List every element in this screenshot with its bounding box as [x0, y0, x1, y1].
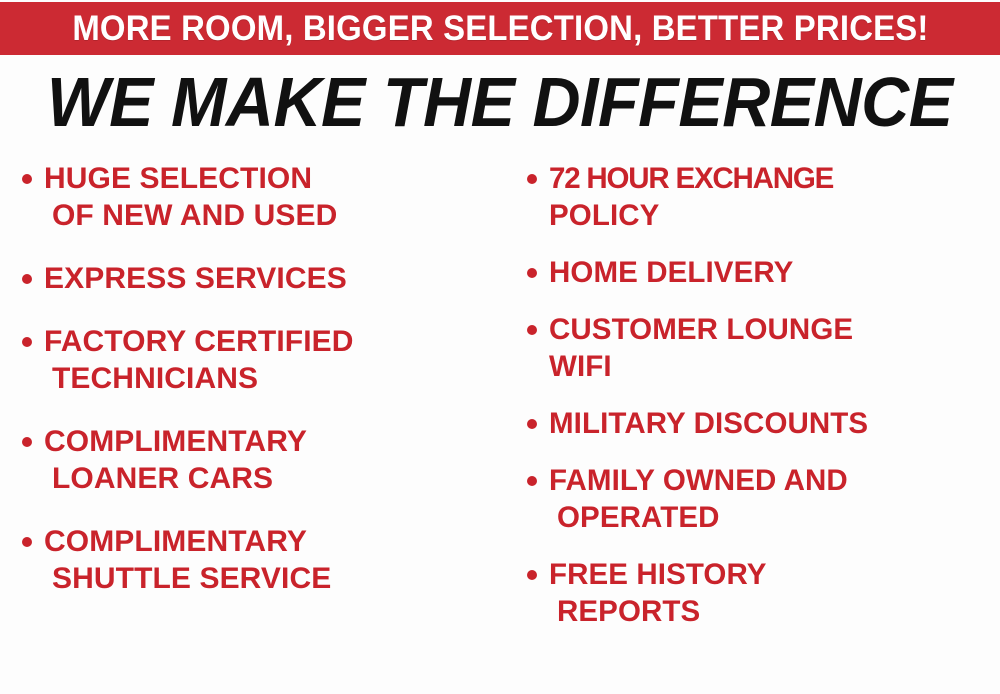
benefit-label: EXPRESS SERVICES — [44, 260, 347, 297]
top-promo-banner-text: MORE ROOM, BIGGER SELECTION, BETTER PRIC… — [72, 11, 928, 46]
bullet-dot-icon — [527, 325, 537, 335]
bullet-dot-icon — [22, 537, 32, 547]
benefit-line-1: MILITARY DISCOUNTS — [549, 405, 868, 442]
benefit-label: MILITARY DISCOUNTS — [549, 405, 868, 442]
benefit-item: 72 HOUR EXCHANGE POLICY — [527, 160, 998, 234]
benefit-line-2: OF NEW AND USED — [44, 197, 337, 234]
bullet-dot-icon — [527, 268, 537, 278]
headline: WE MAKE THE DIFFERENCE — [0, 66, 1000, 138]
benefit-label: COMPLIMENTARY LOANER CARS — [44, 423, 307, 497]
benefit-line-2: OPERATED — [549, 499, 848, 536]
bullet-dot-icon — [527, 570, 537, 580]
benefit-label: HOME DELIVERY — [549, 254, 793, 291]
benefit-item: HUGE SELECTION OF NEW AND USED — [22, 160, 501, 234]
benefits-column-right: 72 HOUR EXCHANGE POLICY HOME DELIVERY CU… — [505, 160, 1000, 694]
benefit-label: COMPLIMENTARY SHUTTLE SERVICE — [44, 523, 331, 597]
benefit-item: FACTORY CERTIFIED TECHNICIANS — [22, 323, 501, 397]
benefit-item: COMPLIMENTARY LOANER CARS — [22, 423, 501, 497]
benefit-line-1: FAMILY OWNED AND — [549, 462, 848, 499]
bullet-dot-icon — [527, 476, 537, 486]
bullet-dot-icon — [527, 174, 537, 184]
benefit-label: FREE HISTORY REPORTS — [549, 556, 767, 630]
bullet-dot-icon — [22, 174, 32, 184]
bullet-dot-icon — [527, 419, 537, 429]
benefit-item: EXPRESS SERVICES — [22, 260, 501, 297]
benefit-item: COMPLIMENTARY SHUTTLE SERVICE — [22, 523, 501, 597]
benefit-line-1: HOME DELIVERY — [549, 254, 793, 291]
dealership-benefits-ad: MORE ROOM, BIGGER SELECTION, BETTER PRIC… — [0, 0, 1000, 694]
top-promo-banner: MORE ROOM, BIGGER SELECTION, BETTER PRIC… — [0, 2, 1000, 55]
benefit-item: CUSTOMER LOUNGE WIFI — [527, 311, 998, 385]
benefit-line-2: REPORTS — [549, 593, 767, 630]
benefit-label: FAMILY OWNED AND OPERATED — [549, 462, 848, 536]
benefit-line-1: HUGE SELECTION — [44, 160, 337, 197]
benefits-columns: HUGE SELECTION OF NEW AND USED EXPRESS S… — [0, 160, 1000, 694]
benefit-line-1: CUSTOMER LOUNGE — [549, 311, 853, 348]
benefit-item: FREE HISTORY REPORTS — [527, 556, 998, 630]
benefit-line-2: POLICY — [549, 197, 833, 234]
benefit-line-1: 72 HOUR EXCHANGE — [549, 160, 833, 197]
benefit-line-1: FACTORY CERTIFIED — [44, 323, 354, 360]
benefit-item: FAMILY OWNED AND OPERATED — [527, 462, 998, 536]
benefit-line-1: FREE HISTORY — [549, 556, 767, 593]
benefits-column-left: HUGE SELECTION OF NEW AND USED EXPRESS S… — [0, 160, 505, 694]
benefit-line-1: COMPLIMENTARY — [44, 523, 331, 560]
benefit-line-2: LOANER CARS — [44, 460, 307, 497]
benefit-label: 72 HOUR EXCHANGE POLICY — [549, 160, 833, 234]
benefit-item: HOME DELIVERY — [527, 254, 998, 291]
benefit-line-2: TECHNICIANS — [44, 360, 354, 397]
benefit-label: FACTORY CERTIFIED TECHNICIANS — [44, 323, 354, 397]
benefit-line-2: WIFI — [549, 348, 853, 385]
benefit-item: MILITARY DISCOUNTS — [527, 405, 998, 442]
benefit-line-2: SHUTTLE SERVICE — [44, 560, 331, 597]
benefit-line-1: EXPRESS SERVICES — [44, 260, 347, 297]
bullet-dot-icon — [22, 274, 32, 284]
headline-text: WE MAKE THE DIFFERENCE — [47, 66, 953, 138]
benefit-label: CUSTOMER LOUNGE WIFI — [549, 311, 853, 385]
benefit-line-1: COMPLIMENTARY — [44, 423, 307, 460]
benefit-label: HUGE SELECTION OF NEW AND USED — [44, 160, 337, 234]
bullet-dot-icon — [22, 437, 32, 447]
bullet-dot-icon — [22, 337, 32, 347]
